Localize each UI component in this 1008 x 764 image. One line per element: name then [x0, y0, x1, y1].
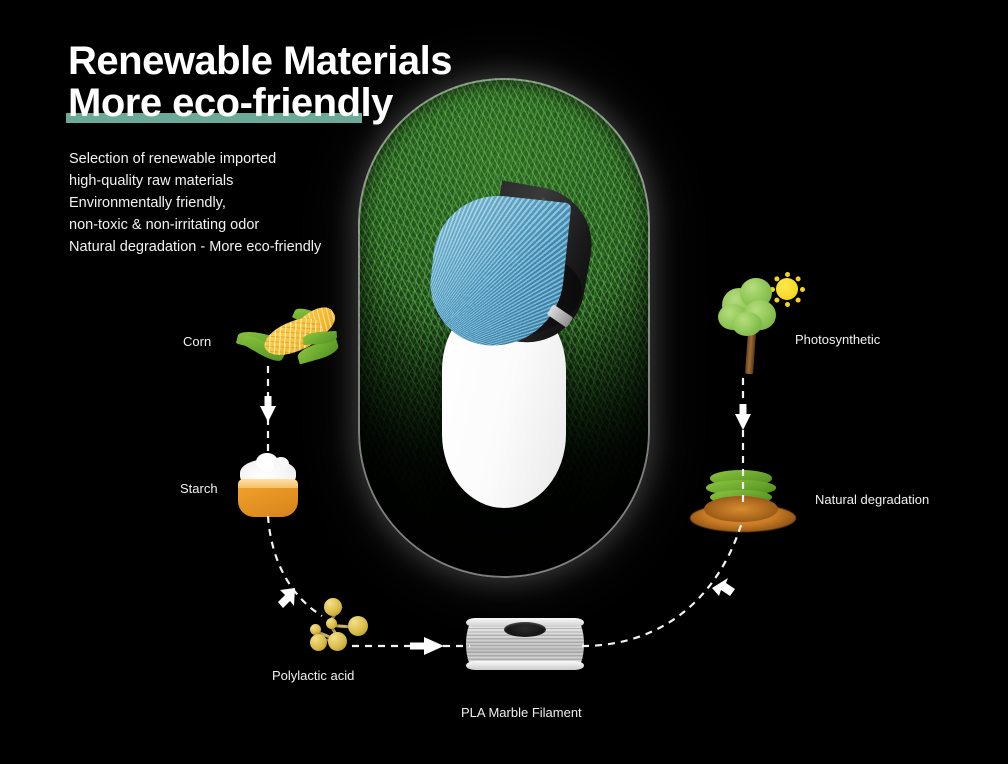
- label-polylactic-acid: Polylactic acid: [272, 668, 354, 683]
- infographic-canvas: Renewable Materials More eco-friendly Se…: [0, 0, 1008, 764]
- headline-line-2: More eco-friendly: [68, 82, 393, 124]
- headline-line-2-text: More eco-friendly: [68, 81, 393, 125]
- product-render: [432, 192, 584, 512]
- body-copy-line: Environmentally friendly,: [69, 192, 399, 214]
- label-pla-marble-filament: PLA Marble Filament: [461, 705, 582, 720]
- sun-core: [776, 278, 798, 300]
- arrowhead-corn-to-starch: [260, 396, 276, 422]
- product-blue-fan: [425, 190, 572, 353]
- starch-bowl: [238, 479, 298, 517]
- spool-rim-bottom: [466, 661, 584, 670]
- sun-icon: [770, 272, 804, 306]
- arrowhead-pla-to-filament: [410, 637, 444, 655]
- body-copy-line: high-quality raw materials: [69, 170, 399, 192]
- body-copy-line: Selection of renewable imported: [69, 148, 399, 170]
- tree-sun-icon: [718, 274, 800, 374]
- body-copy-line: Natural degradation - More eco-friendly: [69, 236, 399, 258]
- arrowhead-filament-to-degradation: [712, 578, 735, 596]
- body-copy-block: Selection of renewable imported high-qua…: [69, 148, 399, 258]
- arrowhead-degradation-to-photosynthetic: [735, 404, 751, 430]
- molecule-icon: [302, 596, 372, 652]
- label-corn: Corn: [183, 334, 211, 349]
- filament-spool-icon: [466, 618, 584, 670]
- spool-center-hole: [504, 622, 546, 637]
- label-photosynthetic: Photosynthetic: [795, 332, 880, 347]
- starch-bowl-icon: [234, 455, 302, 517]
- soil-mound-inner: [704, 496, 778, 522]
- corn-icon: [237, 310, 337, 372]
- headline-line-1: Renewable Materials: [68, 40, 488, 82]
- body-copy-line: non-toxic & non-irritating odor: [69, 214, 399, 236]
- arrowhead-starch-to-pla: [278, 588, 295, 608]
- label-starch: Starch: [180, 481, 218, 496]
- sprout-soil-icon: [690, 470, 796, 532]
- label-natural-degradation: Natural degradation: [815, 492, 929, 507]
